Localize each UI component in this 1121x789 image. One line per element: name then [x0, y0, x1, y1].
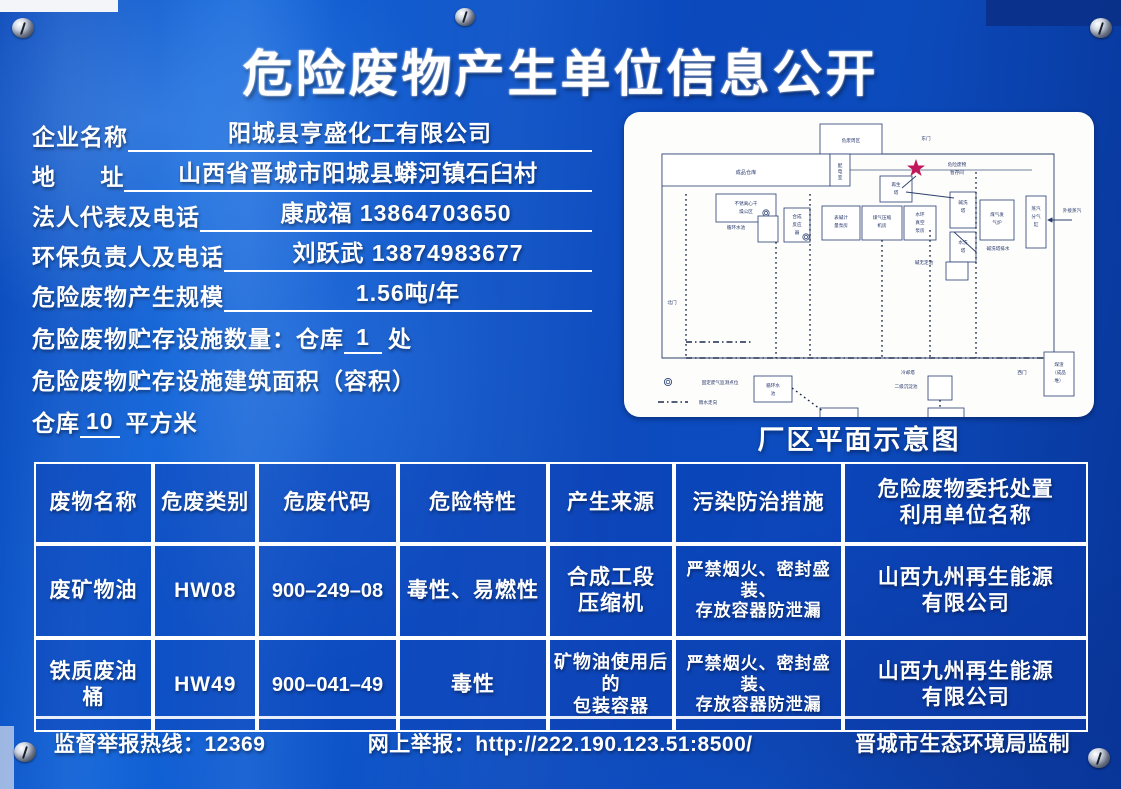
- facility-area-value: 10: [80, 408, 120, 438]
- diagram-label-vacuum-3: 泵房: [915, 227, 925, 234]
- cell-hazard-property: 毒性、易燃性: [398, 544, 549, 638]
- cell-entrusted-unit: 山西九州再生能源有限公司: [843, 544, 1088, 638]
- cell-waste-code: 900–249–08: [257, 544, 397, 638]
- cell-source: 合成工段压缩机: [548, 544, 673, 638]
- diagram-label-east-gate: 东门: [921, 135, 931, 142]
- th-hazard-property: 危险特性: [398, 462, 549, 544]
- facility-count-value: 1: [344, 324, 382, 354]
- info-value: 山西省晋城市阳城县蟒河镇石臼村: [124, 154, 592, 192]
- th-waste-code: 危废代码: [257, 462, 397, 544]
- diagram-label-hazmat-store-2: 暂存间: [950, 169, 964, 176]
- diagram-label-gas-compressor: 煤气压缩: [873, 214, 892, 221]
- screw-icon: [14, 742, 36, 762]
- info-row-facility-area-label: 危险废物贮存设施建筑面积（容积）: [32, 354, 592, 396]
- diagram-label-gas-generator-2: 气炉: [992, 219, 1002, 226]
- cell-waste-category: HW08: [153, 544, 257, 638]
- th-waste-name: 废物名称: [34, 462, 153, 544]
- info-label: 法人代表及电话: [32, 198, 200, 232]
- diagram-label-circ-water: 循环水池: [727, 224, 746, 231]
- hazmat-star-marker: [907, 159, 925, 176]
- info-label: 危险废物产生规模: [32, 278, 224, 312]
- diagram-label-power-room-3: 室: [838, 174, 843, 181]
- diagram-label-regen-tower-2: 塔: [894, 189, 899, 196]
- footer: 监督举报热线：12369 网上举报：http://222.190.123.51:…: [34, 728, 1088, 758]
- diagram-label-gas-compressor-2: 机房: [877, 222, 887, 229]
- diagram-label-circ-pool: 循环水: [766, 382, 780, 389]
- screw-icon: [1088, 748, 1110, 768]
- diagram-label-coal-yard-3: 堆）: [1054, 377, 1063, 384]
- footer-online-report: 网上举报：http://222.190.123.51:8500/: [368, 728, 753, 758]
- info-row-company: 企业名称 阳城县亨盛化工有限公司: [32, 112, 592, 152]
- footer-hotline: 监督举报热线：12369: [54, 728, 265, 758]
- diagram-label-synth-reactor: 合成: [792, 213, 802, 220]
- th-waste-category: 危废类别: [153, 462, 257, 544]
- diagram-label-cooling-tower: 冷却塔: [901, 369, 915, 376]
- diagram-label-steam-sep-3: 缸: [1034, 221, 1039, 228]
- diagram-legend-monitor: 固定废气监测点位: [702, 379, 739, 386]
- diagram-label-centrifuge-2: 燥公区: [739, 208, 753, 215]
- diagram-label-centrifuge: 不锈离心干: [735, 200, 758, 207]
- facility-area-suffix: 平方米: [120, 404, 198, 438]
- diagram-label-hazmat-store: 危险废物: [948, 161, 967, 168]
- diagram-label-synth-reactor-2: 反应: [792, 221, 802, 228]
- diagram-label-second-settling: 二级沉淀池: [895, 383, 918, 390]
- info-value: 康成福 13864703650: [200, 194, 592, 232]
- bottom-left-edge-strip: [0, 726, 14, 789]
- diagram-label-storage-area: 危废周区: [842, 137, 861, 144]
- plant-layout-diagram: .ln{stroke:#2b3f6b;stroke-width:.9;} .th…: [624, 112, 1094, 417]
- facility-area-prefix: 仓库: [32, 404, 80, 438]
- diagram-label-synth-reactor-3: 器: [795, 230, 800, 236]
- diagram-label-nitrogen-pool: 碱无定池: [915, 259, 934, 266]
- info-value: 刘跃武 13874983677: [224, 234, 592, 272]
- diagram-label-steam-sep-2: 分气: [1031, 213, 1041, 220]
- diagram-label-alkali-tower: 碱洗: [958, 199, 968, 206]
- cell-waste-name: 废矿物油: [34, 544, 153, 638]
- diagram-label-circ-pool-2: 池: [771, 390, 776, 397]
- info-row-facility-area-value: 仓库 10 平方米: [32, 396, 592, 438]
- page-title: 危险废物产生单位信息公开: [0, 34, 1121, 106]
- diagram-label-north-gate: 北门: [667, 299, 677, 306]
- diagram-label-west-gate: 西门: [1017, 369, 1027, 376]
- info-label: 企业名称: [32, 118, 128, 152]
- diagram-canvas: .ln{stroke:#2b3f6b;stroke-width:.9;} .th…: [624, 112, 1094, 417]
- info-label: 地 址: [32, 158, 124, 192]
- table-row: 废矿物油 HW08 900–249–08 毒性、易燃性 合成工段压缩机 严禁烟火…: [34, 544, 1088, 638]
- diagram-label-external-steam: 外接蒸汽: [1063, 207, 1082, 214]
- diagram-label-alkali-meter: 表碱计: [834, 214, 848, 221]
- info-row-legal-rep: 法人代表及电话 康成福 13864703650: [32, 192, 592, 232]
- diagram-label-water-tower-2: 塔: [961, 247, 966, 254]
- diagram-label-vacuum: 水环: [915, 211, 925, 218]
- th-pollution-measures: 污染防治措施: [674, 462, 844, 544]
- diagram-label-steam-sep: 蒸汽: [1031, 205, 1041, 212]
- top-left-white-strip: [0, 0, 118, 12]
- diagram-label-finished-warehouse: 成品仓库: [736, 168, 757, 176]
- diagram-legend-flow: 雨水走向: [699, 399, 718, 406]
- hazardous-waste-table: 废物名称 危废类别 危废代码 危险特性 产生来源 污染防治措施 危险废物委托处置…: [34, 462, 1088, 712]
- info-value: 阳城县亨盛化工有限公司: [128, 114, 592, 152]
- info-row-generation-scale: 危险废物产生规模 1.56吨/年: [32, 272, 592, 312]
- info-row-address: 地 址 山西省晋城市阳城县蟒河镇石臼村: [32, 152, 592, 192]
- diagram-label-coal-yard-2: （成品: [1052, 369, 1066, 376]
- info-row-env-officer: 环保负责人及电话 刘跃武 13874983677: [32, 232, 592, 272]
- diagram-label-vacuum-2: 真空: [915, 219, 925, 226]
- diagram-label-coal-yard: 煤渣: [1054, 361, 1064, 368]
- diagram-caption: 厂区平面示意图: [624, 418, 1094, 457]
- facility-count-suffix: 处: [382, 320, 412, 354]
- diagram-label-power-room-2: 电: [838, 168, 843, 175]
- diagram-label-alkali-meter-2: 量泵房: [834, 222, 848, 229]
- diagram-label-gas-generator: 煤气发: [990, 211, 1004, 218]
- info-block: 企业名称 阳城县亨盛化工有限公司 地 址 山西省晋城市阳城县蟒河镇石臼村 法人代…: [32, 112, 592, 438]
- facility-area-label: 危险废物贮存设施建筑面积（容积）: [32, 362, 416, 396]
- footer-divider: [34, 716, 1088, 719]
- table-header-row: 废物名称 危废类别 危废代码 危险特性 产生来源 污染防治措施 危险废物委托处置…: [34, 462, 1088, 544]
- diagram-label-regen-tower: 再生: [891, 181, 901, 188]
- th-source: 产生来源: [548, 462, 673, 544]
- info-row-facility-count: 危险废物贮存设施数量：仓库 1 处: [32, 312, 592, 354]
- facility-count-prefix: 危险废物贮存设施数量：仓库: [32, 320, 344, 354]
- info-value: 1.56吨/年: [224, 274, 592, 312]
- info-label: 环保负责人及电话: [32, 238, 224, 272]
- diagram-label-power-room: 配: [838, 163, 843, 169]
- diagram-label-alkali-drain: 碱洗塔排水: [987, 245, 1010, 252]
- information-board: 危险废物产生单位信息公开 企业名称 阳城县亨盛化工有限公司 地 址 山西省晋城市…: [0, 0, 1121, 789]
- diagram-label-alkali-tower-2: 塔: [961, 207, 966, 214]
- th-entrusted-unit: 危险废物委托处置利用单位名称: [843, 462, 1088, 544]
- screw-icon: [455, 8, 475, 26]
- cell-pollution-measures: 严禁烟火、密封盛装、存放容器防泄漏: [674, 544, 844, 638]
- footer-authority: 晋城市生态环境局监制: [855, 728, 1070, 758]
